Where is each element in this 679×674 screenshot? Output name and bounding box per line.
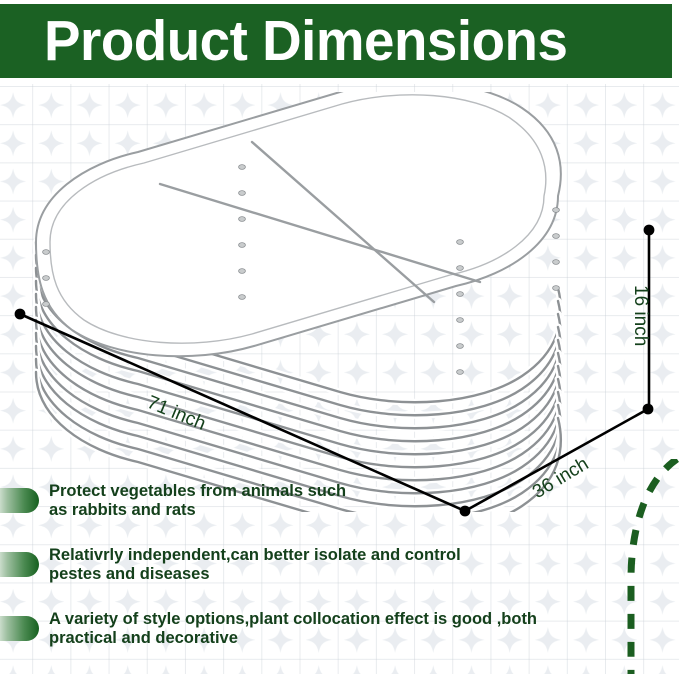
planter-top-rim <box>36 92 561 356</box>
product-dimensions-infographic: Product Dimensions <box>0 0 679 674</box>
height-dimension-label: 16 inch <box>629 285 651 346</box>
feature-line-2: pestes and diseases <box>49 565 461 584</box>
list-item: A variety of style options,plant colloca… <box>0 610 679 674</box>
feature-text: Relativrly independent,can better isolat… <box>49 546 461 584</box>
bullet-marker-icon <box>0 616 39 641</box>
planter-body <box>36 92 561 512</box>
bullet-marker-icon <box>0 552 39 577</box>
feature-line-2: practical and decorative <box>49 629 537 648</box>
list-item: Relativrly independent,can better isolat… <box>0 546 679 610</box>
feature-line-1: Relativrly independent,can better isolat… <box>49 546 461 565</box>
list-item: Protect vegetables from animals such as … <box>0 482 679 546</box>
feature-list: Protect vegetables from animals such as … <box>0 482 679 674</box>
feature-text: A variety of style options,plant colloca… <box>49 610 537 648</box>
product-illustration <box>10 92 650 512</box>
feature-text: Protect vegetables from animals such as … <box>49 482 346 520</box>
header-banner: Product Dimensions <box>0 4 672 78</box>
feature-line-1: Protect vegetables from animals such <box>49 482 346 501</box>
page-title: Product Dimensions <box>44 10 639 74</box>
feature-line-2: as rabbits and rats <box>49 501 346 520</box>
bullet-marker-icon <box>0 488 39 513</box>
feature-line-1: A variety of style options,plant colloca… <box>49 610 537 629</box>
